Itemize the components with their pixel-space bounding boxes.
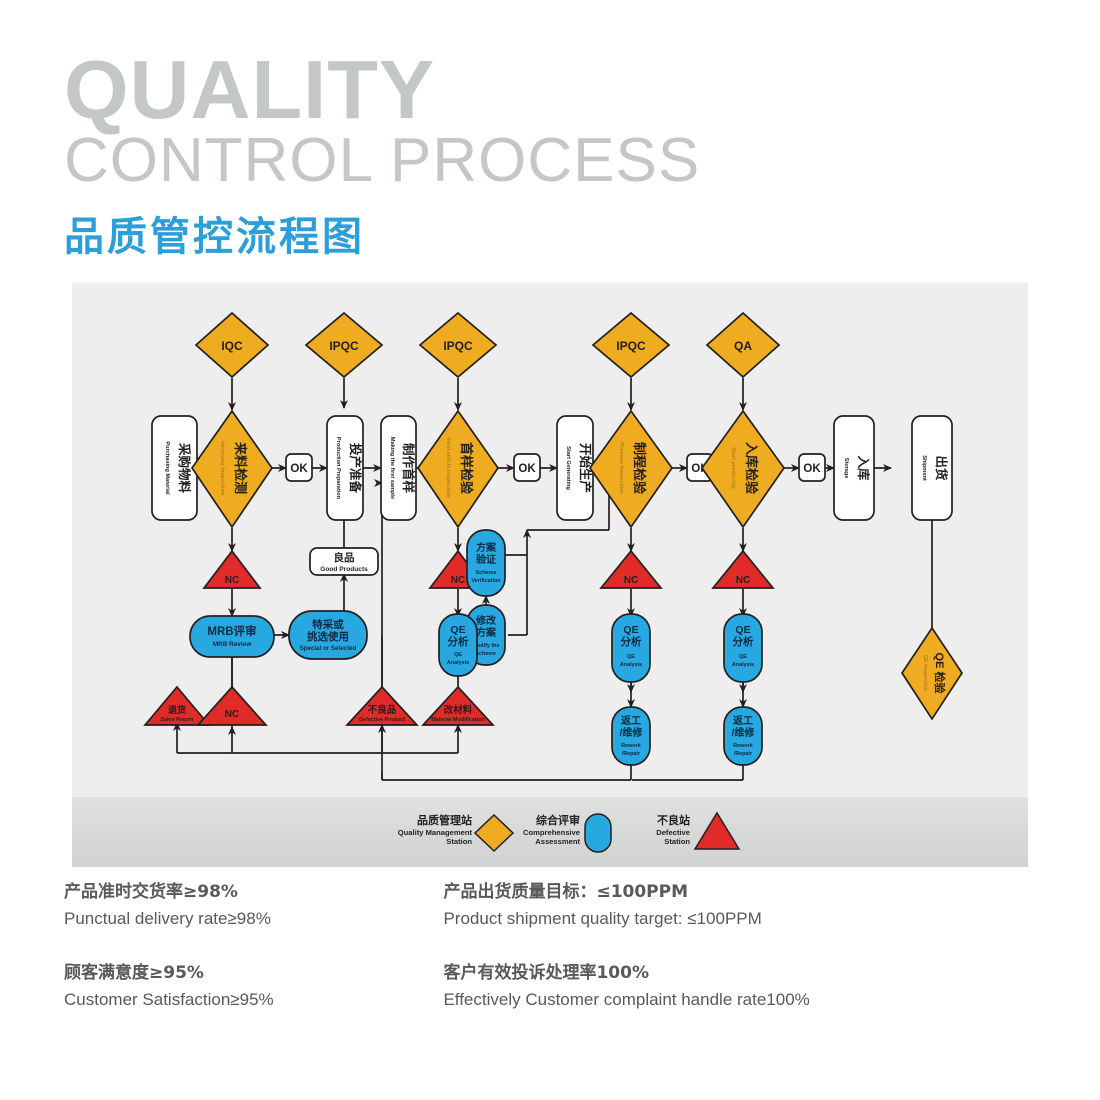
node-qe-analysis-1-label-en2: Analysis: [447, 660, 469, 666]
footer-metrics: 产品准时交货率≥98% Punctual delivery rate≥98% 顾…: [64, 880, 1044, 1012]
node-mrb-review[interactable]: MRB评审 MRB Review: [190, 616, 274, 657]
node-storage-inspection[interactable]: 入库检验 Start producing: [702, 411, 784, 527]
node-scheme-verif-label-cn2: 验证: [476, 553, 496, 566]
node-qe-analysis-1-label-en1: QE: [454, 652, 462, 658]
node-qe-analysis-3[interactable]: QE 分析 QE Analysis: [724, 614, 762, 682]
node-material-mod-label-en: Material Modification: [431, 717, 485, 723]
node-prod-prep-label-en: Production Preparation: [335, 437, 341, 500]
node-storage-insp-label-cn: 入库检验: [744, 442, 759, 495]
node-qe-analysis-2-label-cn2: 分析: [621, 635, 642, 648]
node-defective-product[interactable]: 不良品 Defective Product: [347, 687, 417, 725]
node-storage-insp-label-en: Start producing: [730, 447, 736, 489]
node-ok-2[interactable]: OK: [514, 454, 540, 481]
legend-1-label-en2: Assessment: [535, 837, 580, 846]
legend-diamond-icon: [475, 815, 513, 851]
footer-column-right: 产品出货质量目标：≤100PPM Product shipment qualit…: [443, 880, 809, 1012]
node-nc-5[interactable]: NC: [713, 551, 773, 588]
node-qe-inspection[interactable]: QE 检验 QE Inspection: [902, 628, 962, 719]
node-qe-analysis-2[interactable]: QE 分析 QE Analysis: [612, 614, 650, 682]
legend-item-defective-station: 不良站 Defective Station: [656, 813, 739, 849]
node-production-preparation[interactable]: 投产准备 Production Preparation: [327, 416, 363, 520]
footer-column-left: 产品准时交货率≥98% Punctual delivery rate≥98% 顾…: [64, 880, 439, 1012]
node-start-gen-label-en: Start Generating: [565, 446, 571, 490]
legend-2-label-en2: Station: [664, 837, 690, 846]
node-ipqc1-station[interactable]: IPQC: [306, 313, 382, 377]
node-nc-3-label: NC: [451, 575, 465, 586]
legend-0-label-en1: Quality Management: [398, 828, 473, 837]
node-shipment-label-en: Shipment: [921, 455, 927, 481]
node-start-generating[interactable]: 开始生产 Start Generating: [557, 416, 593, 520]
node-defective-label-cn: 不良品: [368, 704, 397, 716]
node-rework-1-label-en2: /Repair: [622, 751, 641, 757]
node-rework-1-label-cn2: /维修: [620, 726, 644, 739]
node-nc-2-label: NC: [225, 709, 239, 720]
footer-right-0-en: Product shipment quality target: ≤100PPM: [443, 906, 809, 932]
node-sales-return[interactable]: 退货 Sales Return: [145, 687, 209, 725]
node-storage-label-cn: 入库: [856, 455, 871, 481]
node-scheme-verif-label-en1: Scheme: [476, 570, 497, 576]
legend-1-label-cn: 综合评审: [536, 813, 580, 827]
node-special-or-selected[interactable]: 特采或 挑选使用 Special or Selected: [289, 611, 367, 659]
node-special-label-cn1: 特采或: [312, 618, 344, 631]
legend-2-label-en1: Defective: [656, 828, 690, 837]
node-rework-1-label-cn1: 返工: [621, 714, 641, 727]
node-sales-return-label-en: Sales Return: [161, 717, 194, 723]
node-process-insp-label-en: Process Inspection: [618, 442, 624, 494]
title-line-quality: QUALITY: [64, 52, 700, 128]
node-qe-analysis-2-label-cn1: QE: [623, 624, 638, 636]
node-nc-2[interactable]: NC: [198, 687, 266, 725]
node-nc-4[interactable]: NC: [601, 551, 661, 588]
node-rework-2-label-en2: /Repair: [734, 751, 753, 757]
node-qe-analysis-1-label-cn2: 分析: [448, 635, 469, 648]
legend-1-label-en1: Comprehensive: [523, 828, 580, 837]
footer-left-0-cn: 产品准时交货率≥98%: [64, 880, 439, 906]
footer-right-1-cn: 客户有效投诉处理率100%: [443, 961, 809, 987]
node-nc-1-label: NC: [225, 575, 239, 586]
legend-2-label-cn: 不良站: [657, 813, 690, 827]
node-nc-4-label: NC: [624, 575, 638, 586]
node-storage[interactable]: 入库 Storage: [834, 416, 874, 520]
node-first-sample-label-en: Making the first sample: [389, 437, 395, 499]
node-scheme-verification[interactable]: 方案 验证 Scheme Verification: [467, 530, 505, 596]
node-process-inspection[interactable]: 制程检验 Process Inspection: [590, 411, 672, 527]
node-purchasing-label-en: Purchasing Material: [164, 441, 170, 495]
node-rework-2-label-en1: Rework: [733, 743, 752, 749]
node-prod-prep-label-cn: 投产准备: [348, 443, 363, 494]
node-incoming-label-cn: 来料检测: [233, 441, 248, 494]
node-first-sample-label-cn: 制作首样: [401, 443, 416, 494]
node-modify-scheme-label-cn2: 方案: [476, 626, 497, 639]
node-ipqc2-label: IPQC: [443, 339, 473, 353]
node-material-modification[interactable]: 改材料 Material Modification: [423, 687, 493, 725]
node-first-article-label-en: First article inspection: [445, 438, 451, 498]
node-qe-inspection-label-en: QE Inspection: [922, 655, 928, 691]
node-incoming-label-en: Incoming Inspection: [219, 441, 225, 496]
footer-right-1-en: Effectively Customer complaint handle ra…: [443, 987, 809, 1013]
node-ipqc2-station[interactable]: IPQC: [420, 313, 496, 377]
title-line-chinese: 品质管控流程图: [64, 204, 700, 262]
node-qe-analysis-2-label-en2: Analysis: [620, 662, 642, 668]
node-ipqc3-station[interactable]: IPQC: [593, 313, 669, 377]
node-special-label-en: Special or Selected: [300, 645, 357, 652]
node-ok-1-label: OK: [290, 463, 308, 475]
node-purchasing-label-cn: 采购物料: [177, 442, 192, 494]
quality-control-flowchart: IQC IPQC IPQC IPQC QA 采购物料 Purchasing Ma…: [72, 283, 1028, 797]
node-first-article-label-cn: 首样检验: [459, 442, 474, 495]
node-iqc-station[interactable]: IQC: [196, 313, 268, 377]
footer-left-1-en: Customer Satisfaction≥95%: [64, 987, 439, 1013]
node-rework-2-label-cn2: /维修: [732, 726, 756, 739]
node-mrb-label-en: MRB Review: [213, 641, 251, 648]
legend-ellipse-icon: [585, 814, 611, 852]
node-good-products-label-cn: 良品: [334, 551, 355, 564]
node-process-insp-label-cn: 制程检验: [632, 442, 647, 495]
node-storage-label-en: Storage: [843, 458, 849, 479]
node-qe-analysis-2-label-en1: QE: [627, 654, 635, 660]
node-modify-scheme-label-cn1: 修改: [475, 614, 497, 627]
node-qe-analysis-3-label-en1: QE: [739, 654, 747, 660]
node-nc-1[interactable]: NC: [204, 551, 260, 588]
legend-item-quality-management-station: 品质管理站 Quality Management Station: [398, 813, 513, 851]
node-ok-4-label: OK: [803, 463, 821, 475]
node-scheme-verif-label-cn1: 方案: [476, 541, 497, 554]
node-rework-1-label-en1: Rework: [621, 743, 640, 749]
node-mrb-label-cn: MRB评审: [207, 624, 256, 638]
node-qe-analysis-1-label-cn1: QE: [450, 624, 465, 636]
node-good-products[interactable]: 良品 Good Products: [310, 548, 378, 575]
node-scheme-verif-label-en2: Verification: [471, 578, 500, 584]
node-special-label-cn2: 挑选使用: [307, 630, 349, 643]
node-qe-inspection-label-cn: QE 检验: [933, 653, 947, 695]
node-ipqc3-label: IPQC: [616, 339, 646, 353]
footer-right-0-cn: 产品出货质量目标：≤100PPM: [443, 880, 809, 906]
node-making-first-sample[interactable]: 制作首样 Making the first sample: [381, 416, 416, 520]
node-ipqc1-label: IPQC: [329, 339, 359, 353]
footer-left-0-en: Punctual delivery rate≥98%: [64, 906, 439, 932]
node-defective-label-en: Defective Product: [359, 717, 405, 723]
legend-triangle-icon: [695, 813, 739, 849]
node-qa-label: QA: [734, 339, 752, 353]
node-rework-repair-2[interactable]: 返工 /维修 Rework /Repair: [724, 707, 762, 765]
node-material-mod-label-cn: 改材料: [444, 704, 473, 716]
legend-0-label-cn: 品质管理站: [417, 813, 472, 827]
legend: 品质管理站 Quality Management Station 综合评审 Co…: [72, 797, 1028, 867]
node-rework-repair-1[interactable]: 返工 /维修 Rework /Repair: [612, 707, 650, 765]
node-qa-station[interactable]: QA: [707, 313, 779, 377]
footer-left-1-cn: 顾客满意度≥95%: [64, 961, 439, 987]
page-title: QUALITY CONTROL PROCESS 品质管控流程图: [64, 52, 700, 262]
flow-edges: [177, 378, 932, 780]
node-qe-analysis-3-label-cn1: QE: [735, 624, 750, 636]
node-shipment[interactable]: 出货 Shipment: [912, 416, 952, 520]
node-purchasing-material[interactable]: 采购物料 Purchasing Material: [152, 416, 197, 520]
node-incoming-inspection[interactable]: 来料检测 Incoming Inspection: [192, 411, 272, 527]
node-ok-4[interactable]: OK: [799, 454, 825, 481]
node-iqc-label: IQC: [221, 339, 243, 353]
node-qe-analysis-3-label-cn2: 分析: [733, 635, 754, 648]
node-good-products-label-en: Good Products: [320, 566, 368, 573]
node-ok-1[interactable]: OK: [286, 454, 312, 481]
node-rework-2-label-cn1: 返工: [733, 714, 753, 727]
title-line-control-process: CONTROL PROCESS: [64, 130, 700, 192]
node-qe-analysis-1[interactable]: QE 分析 QE Analysis: [439, 614, 477, 676]
node-modify-scheme-label-en2: scheme: [476, 651, 496, 657]
node-nc-5-label: NC: [736, 575, 750, 586]
legend-item-comprehensive-assessment: 综合评审 Comprehensive Assessment: [523, 813, 611, 852]
legend-0-label-en2: Station: [446, 837, 472, 846]
node-sales-return-label-cn: 退货: [168, 704, 186, 715]
node-ok-2-label: OK: [518, 463, 536, 475]
node-first-article-inspection[interactable]: 首样检验 First article inspection: [418, 411, 498, 527]
node-shipment-label-cn: 出货: [934, 455, 949, 481]
node-qe-analysis-3-label-en2: Analysis: [732, 662, 754, 668]
